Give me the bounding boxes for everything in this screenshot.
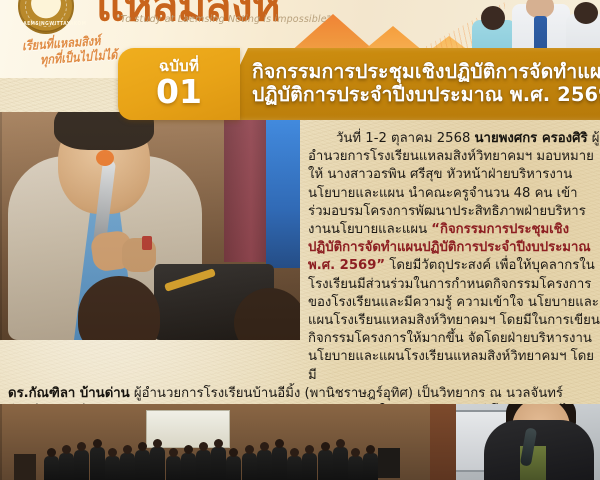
school-seal-icon: LAEMSINGWITTAYAKOM <box>18 0 74 34</box>
issue-badge: ฉบับที่ 01 <box>118 48 240 120</box>
person-silhouette <box>120 453 135 480</box>
article-body: วันที่ 1-2 ตุลาคม 2568 นายพงศกร ครองศิริ… <box>0 130 600 398</box>
seal-label: LAEMSINGWITTAYAKOM <box>20 21 72 27</box>
newsletter-page: LAEMSINGWITTAYAKOM แหลมสิงห์ "To study a… <box>0 0 600 480</box>
issue-number: 01 <box>156 75 202 109</box>
banner-title-line1: กิจกรรมการประชุมเชิงปฏิบัติการจัดทำแผน <box>252 61 600 84</box>
article-speaker-name: ดร.กัณฑิลา บ้านด่าน <box>8 386 130 401</box>
person-silhouette <box>150 447 165 480</box>
person-silhouette <box>181 453 196 480</box>
person-silhouette <box>74 450 89 480</box>
person-silhouette <box>226 456 241 480</box>
person-silhouette <box>287 456 302 480</box>
person-silhouette <box>135 450 150 480</box>
person-silhouette <box>257 450 272 480</box>
person-silhouette <box>333 447 348 480</box>
person-silhouette <box>166 456 181 480</box>
person-silhouette <box>318 450 333 480</box>
person-silhouette <box>363 453 378 480</box>
person-silhouette <box>348 456 363 480</box>
banner-title-line2: ปฏิบัติการประจำปีงบประมาณ พ.ศ. 2569 <box>252 84 600 107</box>
group-people-row <box>44 442 384 480</box>
person-silhouette <box>105 456 120 480</box>
person-silhouette <box>242 453 257 480</box>
article-para2-rest: โดยมีวัตถุประสงค์ เพื่อให้บุคลากรในโรงเร… <box>308 258 600 382</box>
person-silhouette <box>90 447 105 480</box>
brand-tagline-english: "To study at Laemsing Noting is impossib… <box>116 14 331 25</box>
person-silhouette <box>211 447 226 480</box>
person-silhouette <box>44 456 59 480</box>
brand-tagline-thai-line2: ทุกที่เป็นไปไม่ได้ <box>39 44 118 70</box>
person-silhouette <box>302 453 317 480</box>
banner-title-block: กิจกรรมการประชุมเชิงปฏิบัติการจัดทำแผน ป… <box>214 48 600 120</box>
article-director-name: นายพงศกร ครองศิริ <box>475 131 588 146</box>
article-paragraph-1: วันที่ 1-2 ตุลาคม 2568 นายพงศกร ครองศิริ… <box>308 130 600 385</box>
group-photo-conference-room <box>0 404 434 480</box>
person-silhouette <box>196 450 211 480</box>
article-column-right: วันที่ 1-2 ตุลาคม 2568 นายพงศกร ครองศิริ… <box>308 130 600 385</box>
woman-speaking-with-microphone <box>430 404 600 480</box>
photo-strip <box>0 404 600 480</box>
person-silhouette <box>59 453 74 480</box>
article-date: วันที่ 1-2 ตุลาคม 2568 <box>336 131 475 146</box>
person-silhouette <box>272 447 287 480</box>
title-banner: กิจกรรมการประชุมเชิงปฏิบัติการจัดทำแผน ป… <box>118 48 600 120</box>
